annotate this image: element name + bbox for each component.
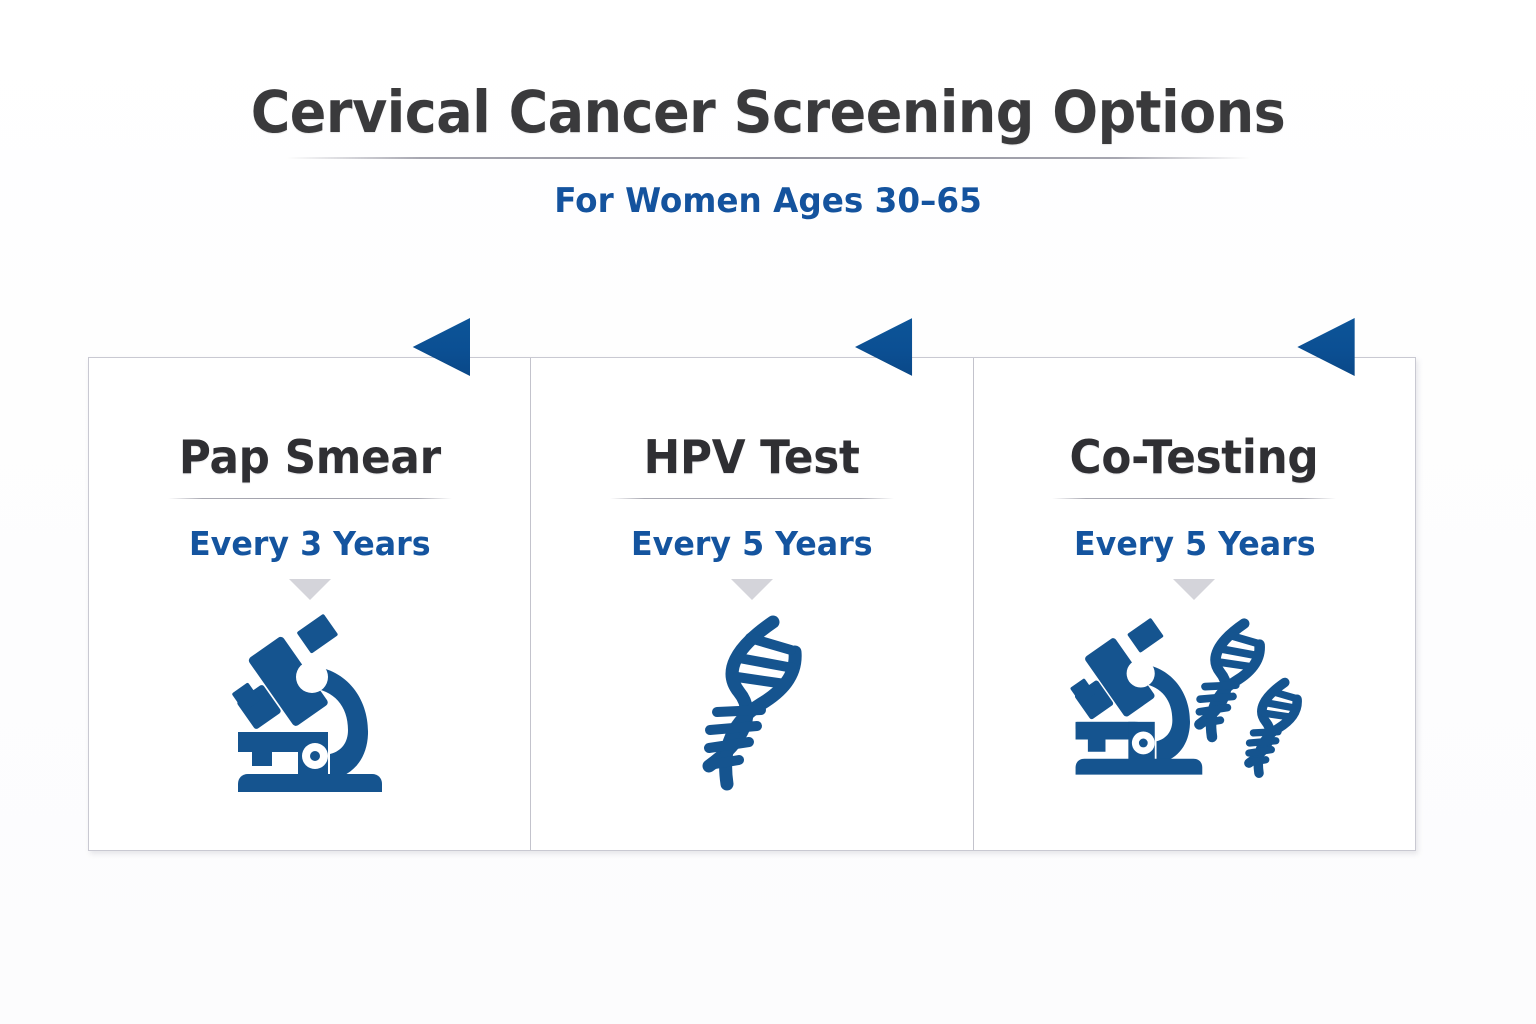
option-divider-1: [168, 498, 452, 499]
ribbon-shape: [973, 318, 1355, 376]
infographic-canvas: Cervical Cancer Screening Options For Wo…: [0, 0, 1536, 1024]
option-badge-label-3: Option 3: [1066, 330, 1261, 365]
option-frequency-2: Every 5 Years: [631, 524, 873, 563]
caret-down-icon: [289, 579, 331, 600]
option-card-2[interactable]: Option 2 HPV Test Every 5 Years: [530, 358, 972, 850]
title-divider: [286, 157, 1251, 159]
option-badge-2: Option 2: [530, 318, 912, 376]
option-title-2: HPV Test: [644, 430, 860, 484]
option-frequency-1: Every 3 Years: [189, 524, 431, 563]
option-badge-1: Option 1: [88, 318, 470, 376]
option-badge-3: Option 3: [973, 318, 1355, 376]
option-title-1: Pap Smear: [179, 430, 441, 484]
caret-down-icon: [731, 579, 773, 600]
caret-down-icon: [1173, 579, 1215, 600]
option-badge-label-1: Option 1: [181, 330, 376, 365]
ribbon-shape: [88, 318, 470, 376]
header: Cervical Cancer Screening Options For Wo…: [0, 82, 1536, 221]
option-divider-3: [1052, 498, 1336, 499]
option-divider-2: [610, 498, 894, 499]
option-card-body-3: Co-Testing Every 5 Years: [974, 376, 1415, 850]
option-card-body-1: Pap Smear Every 3 Years: [89, 376, 530, 850]
option-card-body-2: HPV Test Every 5 Years: [531, 376, 972, 850]
option-card-1[interactable]: Option 1 Pap Smear Every 3 Years: [89, 358, 530, 850]
microscope-icon: [226, 614, 394, 794]
options-container: Option 1 Pap Smear Every 3 Years: [88, 357, 1416, 851]
microscope-and-dna-icon: [1069, 614, 1319, 794]
options-row: Option 1 Pap Smear Every 3 Years: [89, 358, 1415, 850]
page-title: Cervical Cancer Screening Options: [54, 82, 1482, 143]
option-title-3: Co-Testing: [1070, 430, 1319, 484]
page-subtitle: For Women Ages 30–65: [31, 181, 1506, 221]
option-badge-label-2: Option 2: [624, 330, 819, 365]
option-card-3[interactable]: Option 3 Co-Testing Every 5 Years: [973, 358, 1415, 850]
dna-helix-icon: [677, 614, 827, 794]
ribbon-shape: [530, 318, 912, 376]
option-frequency-3: Every 5 Years: [1074, 524, 1316, 563]
